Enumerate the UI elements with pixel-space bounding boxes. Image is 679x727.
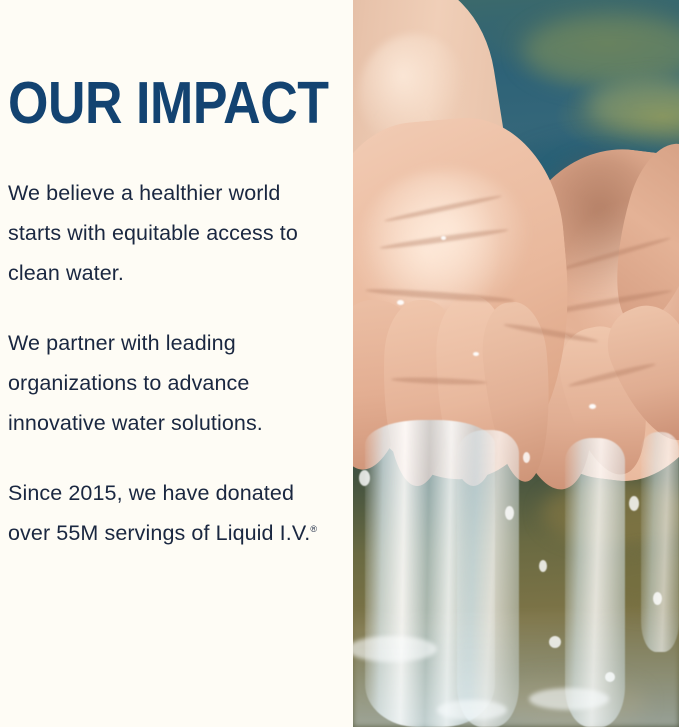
registered-trademark-icon: ® xyxy=(310,524,317,534)
water-surface-glow xyxy=(353,607,679,727)
water-droplet xyxy=(539,560,547,572)
water-glint xyxy=(589,404,596,409)
water-glint xyxy=(473,352,479,356)
paragraph-belief: We believe a healthier world starts with… xyxy=(8,173,328,293)
body-copy: We believe a healthier world starts with… xyxy=(8,173,328,553)
our-impact-panel: OUR IMPACT We believe a healthier world … xyxy=(0,0,679,727)
hands-water-photo xyxy=(353,0,679,727)
water-glint xyxy=(441,236,446,240)
water-droplet xyxy=(505,506,514,520)
water-droplet xyxy=(359,470,370,486)
paragraph-donation-text: Since 2015, we have donated over 55M ser… xyxy=(8,481,310,545)
water-glint xyxy=(397,300,404,305)
paragraph-donation: Since 2015, we have donated over 55M ser… xyxy=(8,473,328,553)
paragraph-partnership: We partner with leading organizations to… xyxy=(8,323,328,443)
water-droplet xyxy=(523,452,530,463)
page-title: OUR IMPACT xyxy=(8,72,329,134)
water-droplet xyxy=(653,592,662,605)
text-panel: OUR IMPACT We believe a healthier world … xyxy=(0,0,353,727)
water-droplet xyxy=(629,496,639,511)
